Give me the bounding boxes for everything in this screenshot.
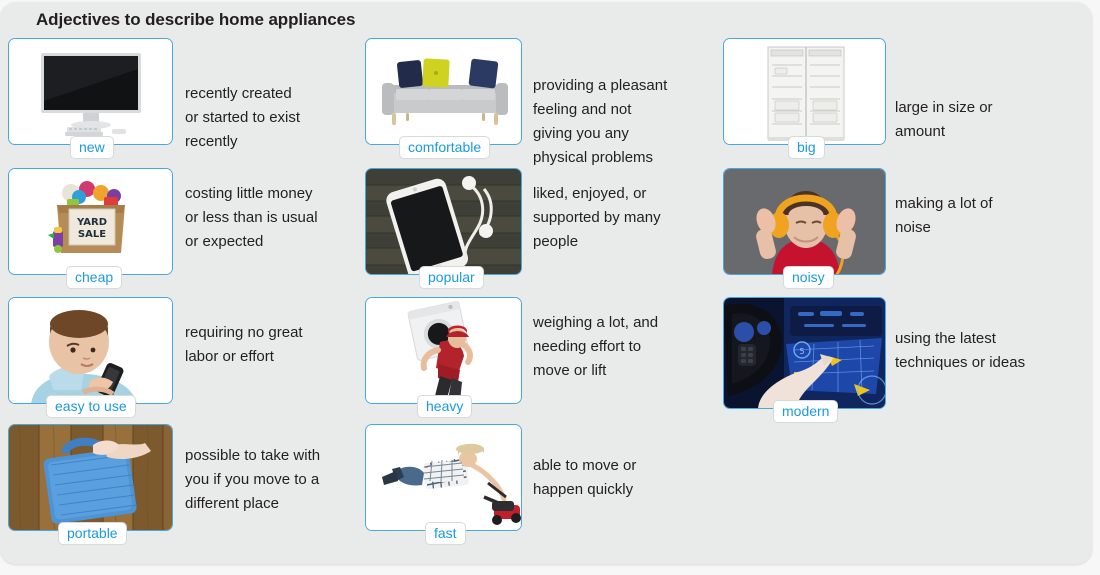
word-badge-noisy[interactable]: noisy [783,266,834,289]
definition-heavy: weighing a lot, and needing effort to mo… [533,311,713,383]
image-card-fast[interactable] [365,424,522,531]
definition-noisy: making a lot of noise [895,192,1070,240]
yard-sale-box-of-items-photo: YARD SALE [9,169,172,274]
list-item[interactable]: big large in size or amount [723,38,1073,158]
image-card-new[interactable] [8,38,173,145]
definition-comfortable: providing a pleasant feeling and not giv… [533,74,713,170]
image-card-portable[interactable] [8,424,173,531]
definition-cheap: costing little money or less than is usu… [185,182,365,254]
word-badge-easy-to-use[interactable]: easy to use [46,395,136,418]
list-item[interactable]: new recently created or started to exist… [8,38,353,158]
svg-text:YARD: YARD [76,217,107,228]
toddler-using-mobile-phone-photo [9,298,172,403]
man-carrying-washing-machine-photo [366,298,521,403]
word-badge-portable[interactable]: portable [58,522,127,545]
desktop-computer-monitor-keyboard-photo [9,39,172,144]
list-item[interactable]: portable possible to take with you if yo… [8,424,353,544]
image-card-popular[interactable] [365,168,522,275]
image-card-easy-to-use[interactable] [8,297,173,404]
image-card-cheap[interactable]: YARD SALE [8,168,173,275]
image-card-modern[interactable]: 5 [723,297,886,409]
definition-popular: liked, enjoyed, or supported by many peo… [533,182,713,254]
man-flying-behind-lawn-mower-photo [366,425,521,530]
word-badge-modern[interactable]: modern [773,400,838,423]
smartphone-with-earphones-on-wood-photo [366,169,521,274]
page-title: Adjectives to describe home appliances [36,10,355,30]
woman-wearing-orange-headphones-photo [724,169,885,274]
definition-modern: using the latest techniques or ideas [895,327,1075,375]
word-badge-cheap[interactable]: cheap [66,266,122,289]
image-card-noisy[interactable] [723,168,886,275]
image-card-comfortable[interactable] [365,38,522,145]
list-item[interactable]: popular liked, enjoyed, or supported by … [365,168,715,288]
word-badge-heavy[interactable]: heavy [417,395,472,418]
list-item[interactable]: noisy making a lot of noise [723,168,1073,288]
definition-portable: possible to take with you if you move to… [185,444,365,516]
word-badge-popular[interactable]: popular [419,266,484,289]
adjectives-panel: Adjectives to describe home appliances [0,2,1092,564]
word-badge-comfortable[interactable]: comfortable [399,136,490,159]
word-badge-fast[interactable]: fast [425,522,466,545]
grey-sofa-with-cushions-photo [366,39,521,144]
list-item[interactable]: heavy weighing a lot, and needing effort… [365,297,715,417]
word-badge-big[interactable]: big [788,136,825,159]
word-badge-new[interactable]: new [70,136,114,159]
list-item[interactable]: fast able to move or happen quickly [365,424,715,544]
image-card-heavy[interactable] [365,297,522,404]
list-item[interactable]: comfortable providing a pleasant feeling… [365,38,715,158]
list-item[interactable]: YARD SALE cheap costing little money or … [8,168,353,288]
list-item[interactable]: 5 modern [723,297,1073,417]
image-card-big[interactable] [723,38,886,145]
list-item[interactable]: easy to use requiring no great labor or … [8,297,353,417]
definition-easy-to-use: requiring no great labor or effort [185,321,365,369]
blue-bag-held-over-wooden-floor-photo [9,425,172,530]
open-double-door-refrigerator-photo [724,39,885,144]
definition-fast: able to move or happen quickly [533,454,713,502]
svg-text:SALE: SALE [78,229,106,240]
definition-big: large in size or amount [895,96,1070,144]
svg-text:5: 5 [799,347,804,356]
futuristic-car-dashboard-touchscreen-photo: 5 [724,298,885,408]
definition-new: recently created or started to exist rec… [185,82,355,154]
